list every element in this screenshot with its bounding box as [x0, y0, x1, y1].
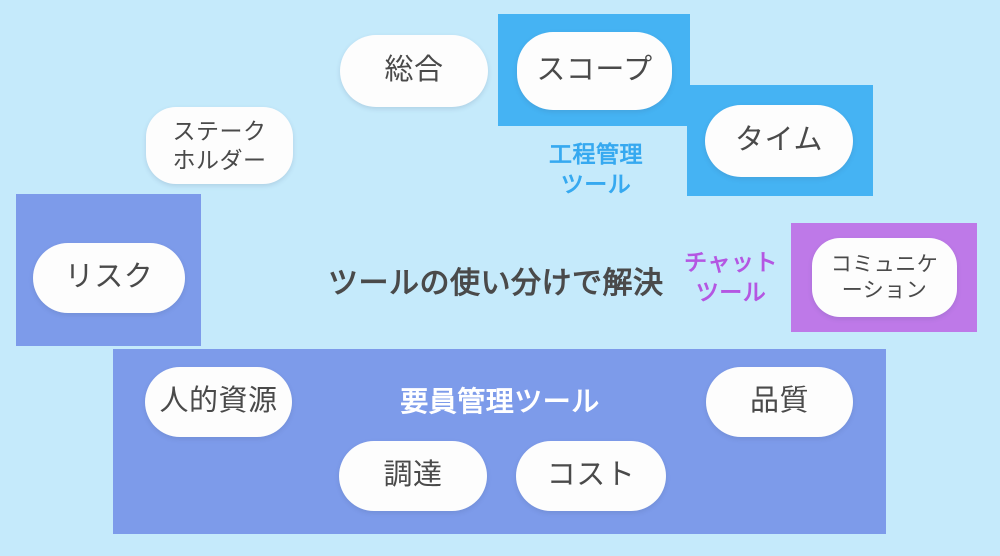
- pill-communication[interactable]: コミュニケ ーション: [812, 238, 957, 317]
- pill-stakeholder[interactable]: ステーク ホルダー: [146, 107, 293, 184]
- diagram-canvas: 工程管理 ツール チャット ツール 要員管理ツール ツールの使い分けで解決 総合…: [0, 0, 1000, 556]
- pill-cost[interactable]: コスト: [516, 441, 666, 511]
- pill-quality[interactable]: 品質: [706, 367, 853, 437]
- headline-text: ツールの使い分けで解決: [328, 258, 664, 302]
- pill-scope[interactable]: スコープ: [517, 32, 672, 110]
- group-caption-schedule: 工程管理 ツール: [520, 139, 672, 200]
- pill-time[interactable]: タイム: [705, 105, 853, 177]
- pill-human-resource[interactable]: 人的資源: [145, 367, 292, 437]
- group-caption-chat: チャット ツール: [666, 247, 796, 308]
- pill-procurement[interactable]: 調達: [339, 441, 487, 511]
- group-caption-resource: 要員管理ツール: [330, 384, 670, 421]
- pill-risk[interactable]: リスク: [33, 243, 185, 313]
- pill-integration[interactable]: 総合: [340, 35, 488, 107]
